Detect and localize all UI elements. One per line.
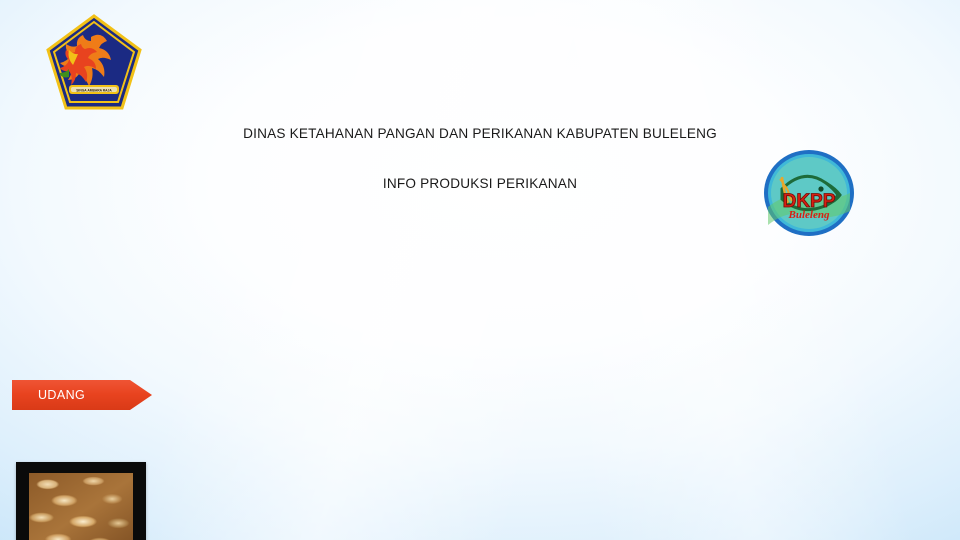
slide-canvas: SINGA AMBARA RAJA DINAS KETAHANAN PANGAN… [0, 0, 960, 540]
udang-photo-image [29, 473, 133, 540]
dkpp-buleleng-fish-logo: DKPP Buleleng [760, 147, 858, 239]
buleleng-regency-crest-logo: SINGA AMBARA RAJA [45, 13, 143, 113]
svg-text:Buleleng: Buleleng [788, 209, 830, 221]
udang-photo [16, 462, 146, 540]
svg-text:SINGA AMBARA RAJA: SINGA AMBARA RAJA [76, 88, 112, 92]
banner-label-udang: UDANG [38, 388, 85, 402]
header-title-line-1: DINAS KETAHANAN PANGAN DAN PERIKANAN KAB… [0, 126, 960, 141]
section-banner-udang[interactable]: UDANG [12, 380, 152, 410]
